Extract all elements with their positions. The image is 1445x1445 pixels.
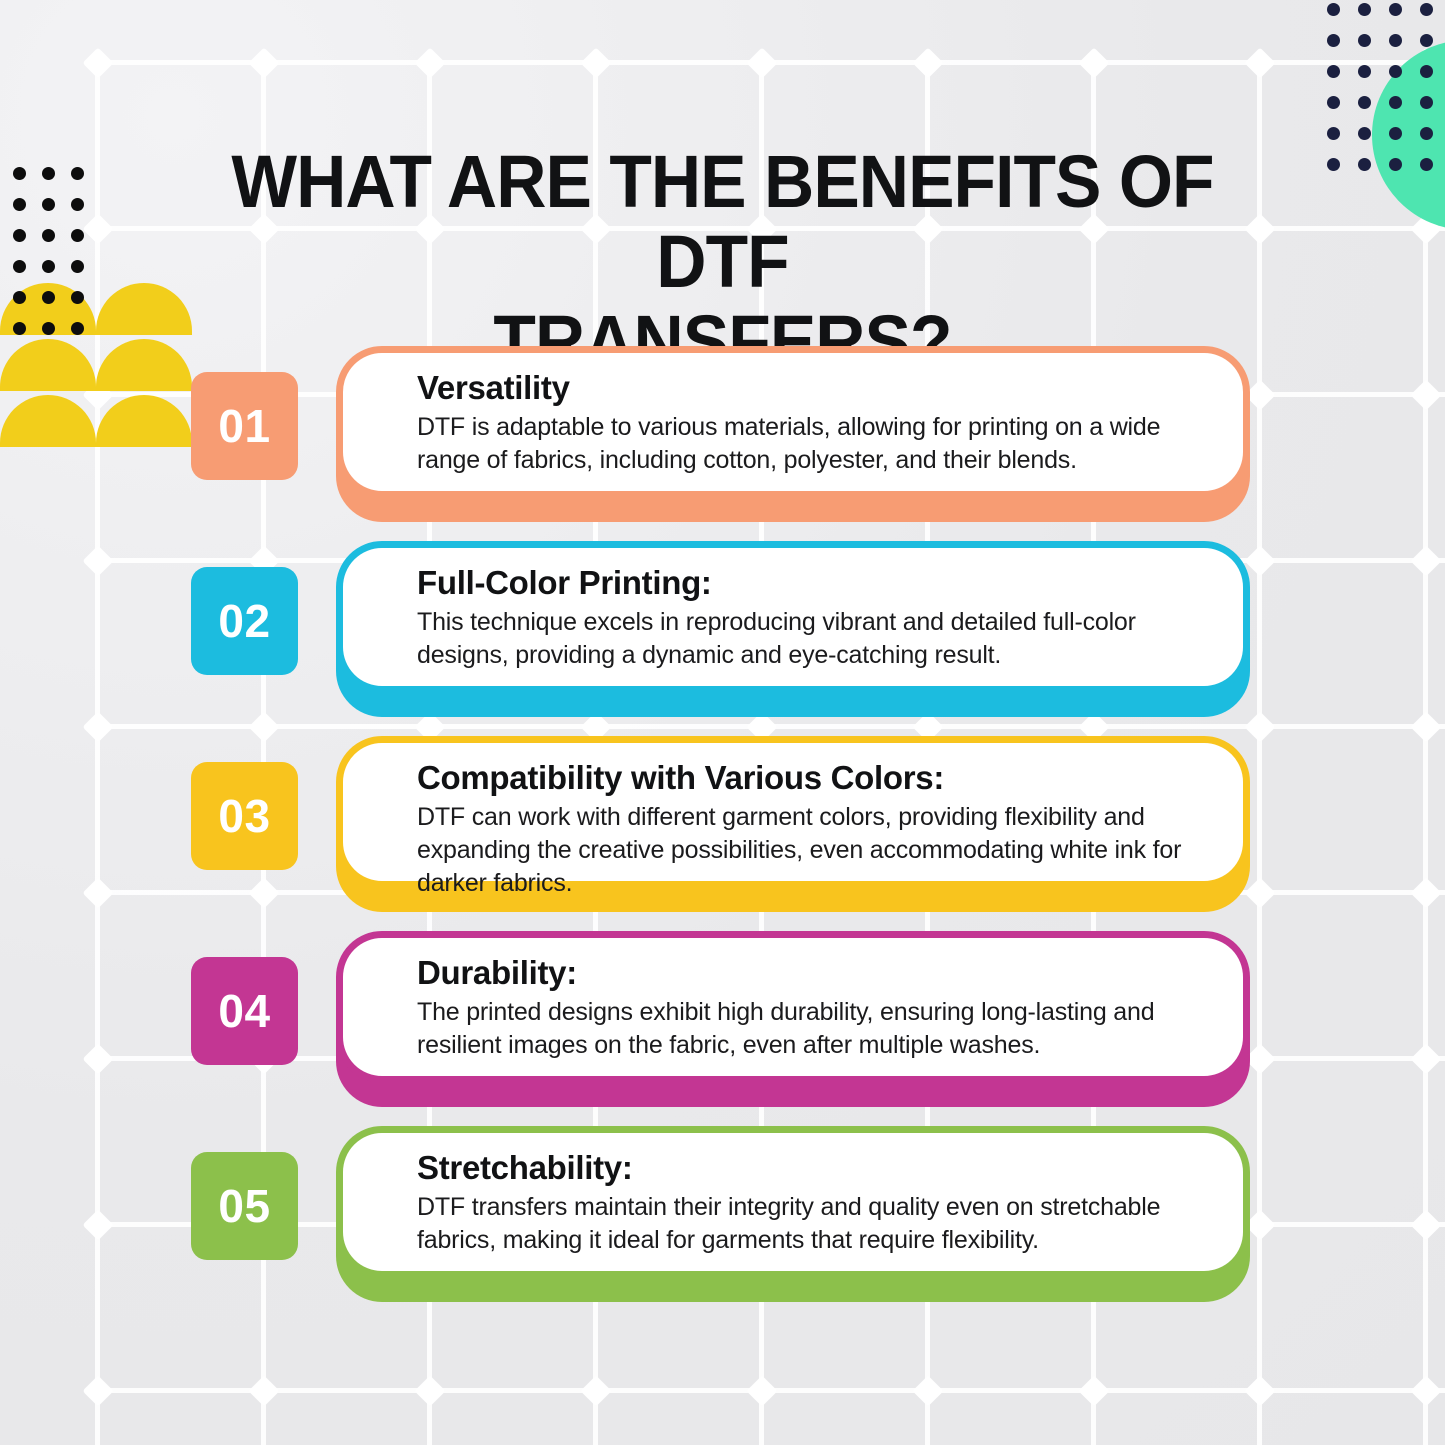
decoration-dot xyxy=(42,260,55,273)
decoration-dot xyxy=(1389,127,1402,140)
decoration-dot xyxy=(1327,65,1340,78)
card-description: The printed designs exhibit high durabil… xyxy=(417,996,1215,1062)
card-description: DTF is adaptable to various materials, a… xyxy=(417,411,1215,477)
decoration-dot xyxy=(1327,158,1340,171)
card-description: DTF transfers maintain their integrity a… xyxy=(417,1191,1215,1257)
decoration-dot xyxy=(1420,34,1433,47)
benefit-card[interactable]: Compatibility with Various Colors:DTF ca… xyxy=(0,730,1445,925)
benefit-card[interactable]: Stretchability:DTF transfers maintain th… xyxy=(0,1120,1445,1315)
card-number-badge: 01 xyxy=(191,372,298,480)
decoration-dot xyxy=(1389,96,1402,109)
decoration-dot xyxy=(1420,127,1433,140)
decoration-dot xyxy=(1327,96,1340,109)
decoration-dot xyxy=(1358,34,1371,47)
decoration-dot xyxy=(1389,65,1402,78)
decoration-dot xyxy=(42,322,55,335)
benefit-card[interactable]: Durability:The printed designs exhibit h… xyxy=(0,925,1445,1120)
decoration-dot xyxy=(1327,3,1340,16)
card-description: DTF can work with different garment colo… xyxy=(417,801,1215,900)
card-body: Compatibility with Various Colors:DTF ca… xyxy=(336,736,1250,888)
decoration-dot xyxy=(71,198,84,211)
decoration-dot xyxy=(71,167,84,180)
card-description: This technique excels in reproducing vib… xyxy=(417,606,1215,672)
decoration-dot xyxy=(13,229,26,242)
decoration-dot xyxy=(71,229,84,242)
benefits-card-list: VersatilityDTF is adaptable to various m… xyxy=(0,340,1445,1315)
decoration-dot xyxy=(13,198,26,211)
card-title: Durability: xyxy=(417,954,1215,992)
decoration-dot xyxy=(1389,34,1402,47)
decoration-dot xyxy=(71,322,84,335)
decoration-dot xyxy=(13,322,26,335)
decoration-dot xyxy=(1420,96,1433,109)
benefit-card[interactable]: Full-Color Printing:This technique excel… xyxy=(0,535,1445,730)
card-title: Stretchability: xyxy=(417,1149,1215,1187)
page-title-line-1: WHAT ARE THE BENEFITS OF DTF xyxy=(194,142,1252,302)
decoration-dot xyxy=(42,167,55,180)
card-number-badge: 04 xyxy=(191,957,298,1065)
decoration-dot xyxy=(42,198,55,211)
decoration-dot xyxy=(1358,158,1371,171)
decoration-dot xyxy=(1358,3,1371,16)
card-body: VersatilityDTF is adaptable to various m… xyxy=(336,346,1250,498)
decoration-dot xyxy=(1327,34,1340,47)
card-title: Full-Color Printing: xyxy=(417,564,1215,602)
decoration-dot xyxy=(42,291,55,304)
card-title: Compatibility with Various Colors: xyxy=(417,759,1215,797)
benefit-card[interactable]: VersatilityDTF is adaptable to various m… xyxy=(0,340,1445,535)
decoration-dot xyxy=(13,260,26,273)
decoration-dot xyxy=(1358,127,1371,140)
card-body: Durability:The printed designs exhibit h… xyxy=(336,931,1250,1083)
card-number-badge: 02 xyxy=(191,567,298,675)
decoration-dot xyxy=(1389,158,1402,171)
decoration-dot xyxy=(1389,3,1402,16)
decoration-dot xyxy=(1420,3,1433,16)
card-body: Stretchability:DTF transfers maintain th… xyxy=(336,1126,1250,1278)
decoration-dot xyxy=(1358,96,1371,109)
decoration-dot xyxy=(1420,65,1433,78)
decoration-dot xyxy=(71,260,84,273)
decoration-dot xyxy=(71,291,84,304)
decoration-dot xyxy=(42,229,55,242)
decoration-dot xyxy=(1327,127,1340,140)
card-body: Full-Color Printing:This technique excel… xyxy=(336,541,1250,693)
decoration-dot xyxy=(1420,158,1433,171)
card-number-badge: 03 xyxy=(191,762,298,870)
card-number-badge: 05 xyxy=(191,1152,298,1260)
decoration-dot xyxy=(13,291,26,304)
card-title: Versatility xyxy=(417,369,1215,407)
decoration-dot xyxy=(13,167,26,180)
decoration-dot xyxy=(1358,65,1371,78)
